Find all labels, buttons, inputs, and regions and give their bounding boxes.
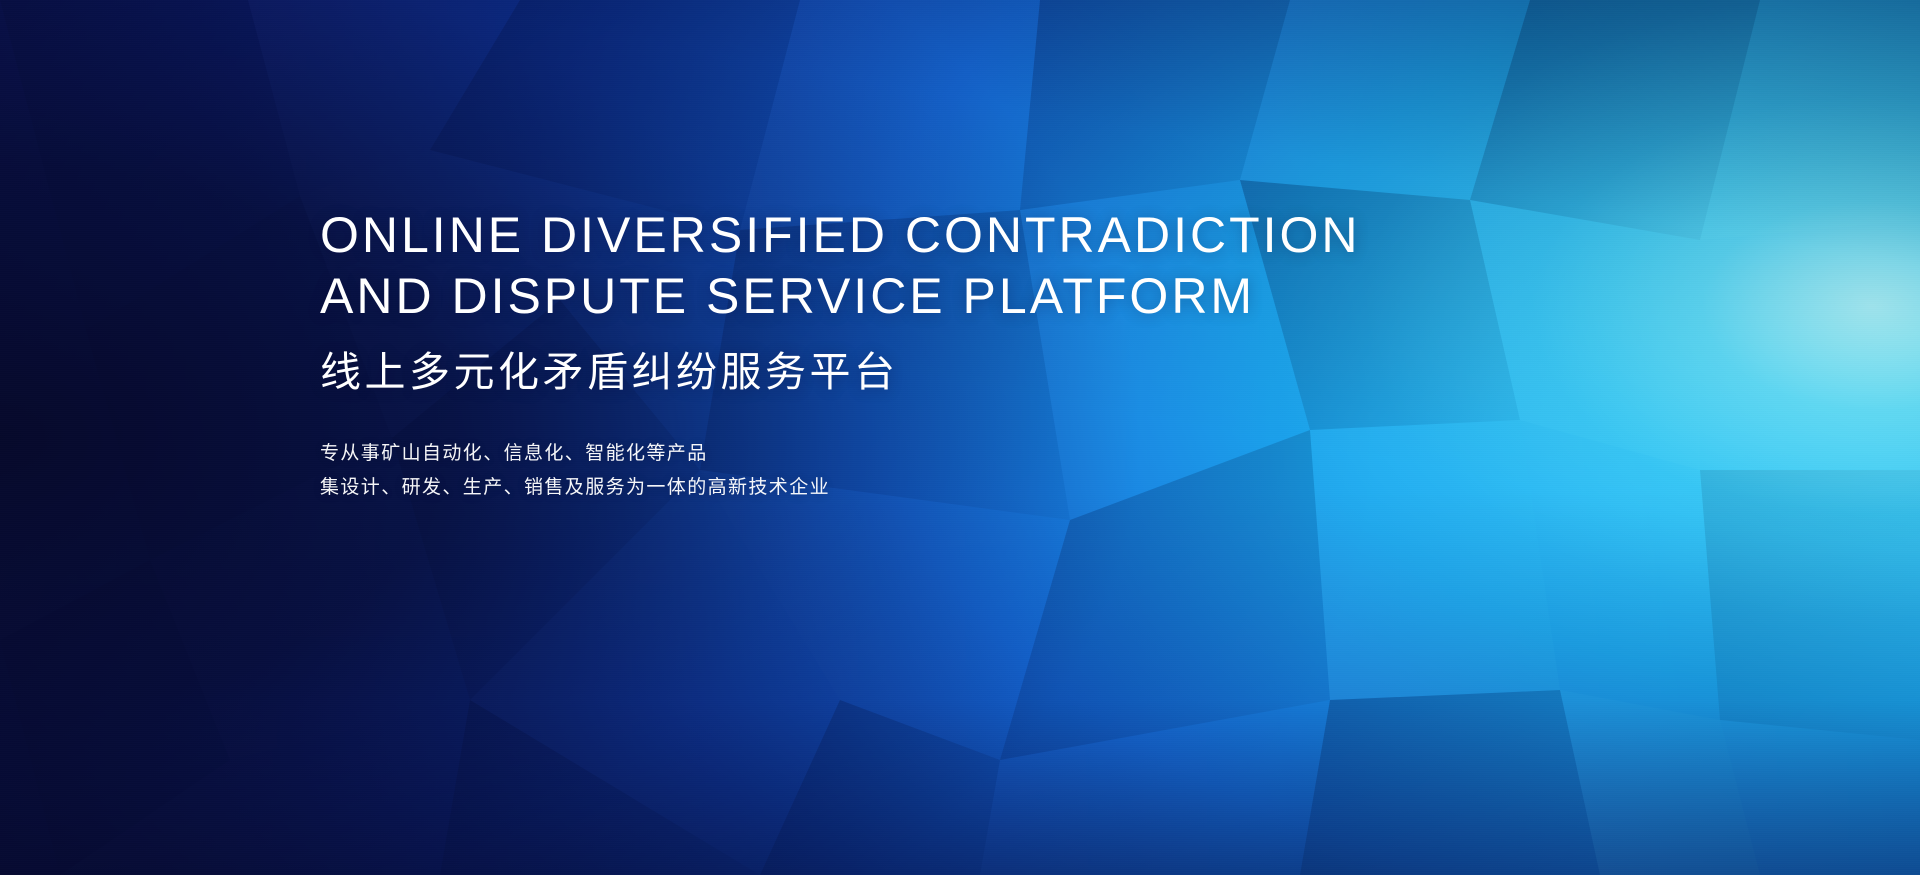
subtitle-line-2: 集设计、研发、生产、销售及服务为一体的高新技术企业 [320, 471, 1660, 505]
headline-chinese: 线上多元化矛盾纠纷服务平台 [320, 344, 1660, 400]
banner-copy-block: ONLINE DIVERSIFIED CONTRADICTION AND DIS… [320, 205, 1660, 505]
headline-english-line-1: ONLINE DIVERSIFIED CONTRADICTION [320, 205, 1660, 266]
headline-english-line-2: AND DISPUTE SERVICE PLATFORM [320, 266, 1660, 327]
hero-banner: ONLINE DIVERSIFIED CONTRADICTION AND DIS… [0, 0, 1920, 875]
subtitle-block: 专从事矿山自动化、信息化、智能化等产品 集设计、研发、生产、销售及服务为一体的高… [320, 437, 1660, 505]
subtitle-line-1: 专从事矿山自动化、信息化、智能化等产品 [320, 437, 1660, 471]
